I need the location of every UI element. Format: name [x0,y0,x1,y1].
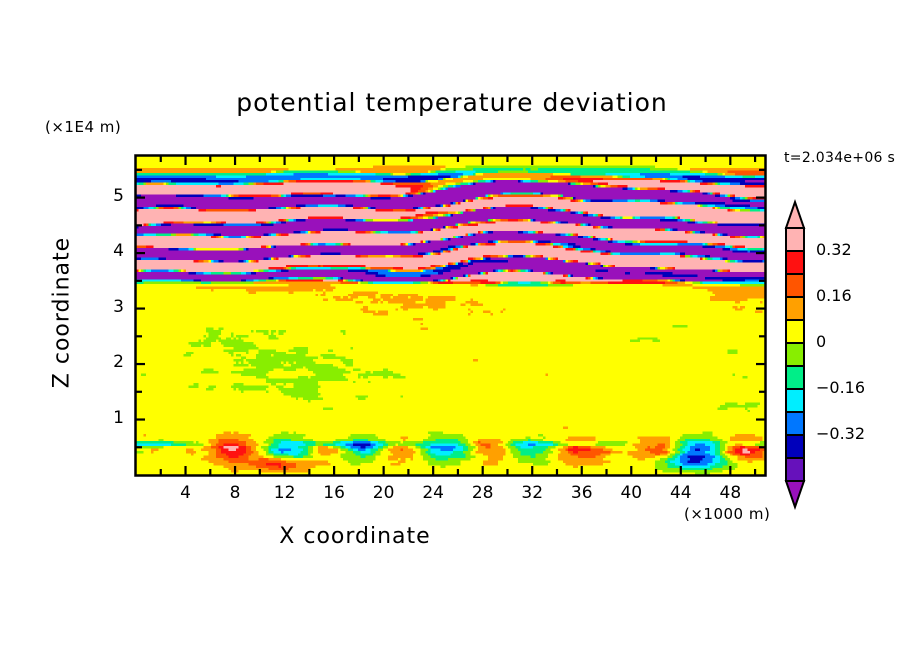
x-tick-label: 20 [362,483,406,503]
contour-plot [0,0,904,654]
colorbar-tick-label: −0.32 [816,424,865,443]
y-tick-label: 5 [96,186,124,206]
colorbar-tick-label: 0 [816,332,826,351]
x-tick-label: 36 [560,483,604,503]
x-tick-label: 12 [263,483,307,503]
x-tick-label: 24 [411,483,455,503]
x-tick-label: 4 [164,483,208,503]
figure-canvas: potential temperature deviation (×1E4 m)… [0,0,904,654]
colorbar-tick-label: 0.32 [816,240,852,259]
x-tick-label: 8 [213,483,257,503]
y-tick-label: 2 [96,352,124,372]
x-tick-label: 16 [312,483,356,503]
x-tick-label: 40 [609,483,653,503]
colorbar-tick-label: −0.16 [816,378,865,397]
x-tick-label: 44 [659,483,703,503]
x-tick-label: 32 [510,483,554,503]
y-tick-label: 3 [96,297,124,317]
x-tick-label: 28 [461,483,505,503]
y-tick-label: 4 [96,241,124,261]
x-tick-label: 48 [708,483,752,503]
colorbar-tick-label: 0.16 [816,286,852,305]
y-tick-label: 1 [96,408,124,428]
